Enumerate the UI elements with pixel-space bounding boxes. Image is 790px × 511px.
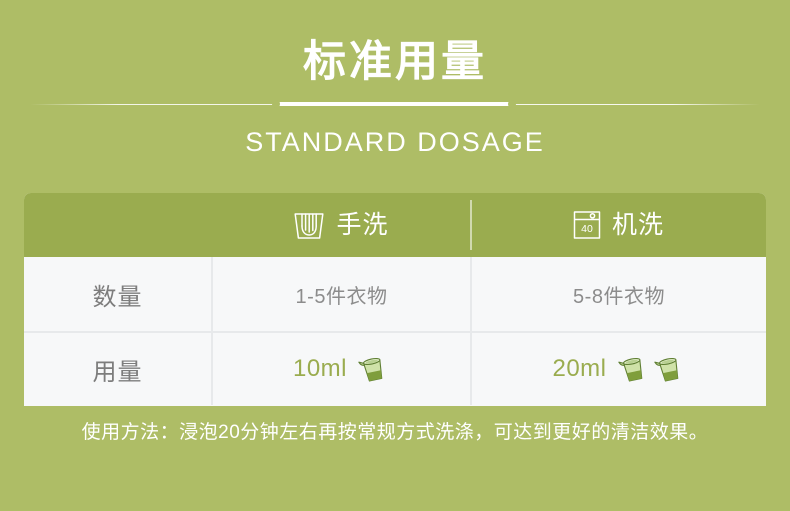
- table-body: 数量 1-5件衣物 5-8件衣物 用量 10ml: [24, 257, 766, 405]
- dosage-amount-machinewash: 20ml: [552, 355, 606, 383]
- row-label-quantity: 数量: [24, 257, 211, 331]
- divider-dot-right: [508, 100, 516, 108]
- row-label-dosage: 用量: [24, 333, 211, 405]
- machine-temperature-text: 40: [581, 223, 593, 235]
- table-row: 数量 1-5件衣物 5-8件衣物: [24, 257, 766, 331]
- table-header-cell-machinewash: 40 机洗: [470, 193, 766, 257]
- dosage-table: 手洗 40 机洗: [24, 193, 766, 406]
- measuring-cup-group-machinewash: [616, 352, 686, 386]
- cell-dosage-handwash: 10ml: [211, 333, 470, 405]
- cell-dosage-machinewash: 20ml: [470, 333, 766, 405]
- table-header-cell-handwash: 手洗: [211, 193, 470, 257]
- title-divider: [0, 98, 790, 112]
- page-title-en: STANDARD DOSAGE: [0, 126, 790, 158]
- dosage-amount-handwash: 10ml: [293, 355, 347, 383]
- standard-dosage-panel: 标准用量 STANDARD DOSAGE: [0, 0, 790, 511]
- machine-wash-icon: 40: [572, 209, 602, 241]
- divider-center-bar: [278, 102, 510, 106]
- table-row: 用量 10ml: [24, 331, 766, 405]
- measuring-cup-icon: [616, 352, 650, 386]
- usage-note: 使用方法：浸泡20分钟左右再按常规方式洗涤，可达到更好的清洁效果。: [0, 406, 790, 454]
- header-column-separator: [470, 200, 472, 250]
- measuring-cup-group-handwash: [356, 352, 390, 386]
- hand-wash-icon: [292, 209, 326, 241]
- table-header-row: 手洗 40 机洗: [24, 193, 766, 257]
- table-header-cell-blank: [24, 193, 211, 257]
- cell-quantity-handwash: 1-5件衣物: [211, 257, 470, 331]
- page-title-cn: 标准用量: [0, 36, 790, 88]
- measuring-cup-icon: [652, 352, 686, 386]
- table-header-label-handwash: 手洗: [336, 211, 388, 239]
- divider-dot-left: [272, 100, 280, 108]
- measuring-cup-icon: [356, 352, 390, 386]
- table-header-label-machinewash: 机洗: [612, 211, 664, 239]
- cell-quantity-machinewash: 5-8件衣物: [470, 257, 766, 331]
- title-block: 标准用量 STANDARD DOSAGE: [0, 36, 790, 158]
